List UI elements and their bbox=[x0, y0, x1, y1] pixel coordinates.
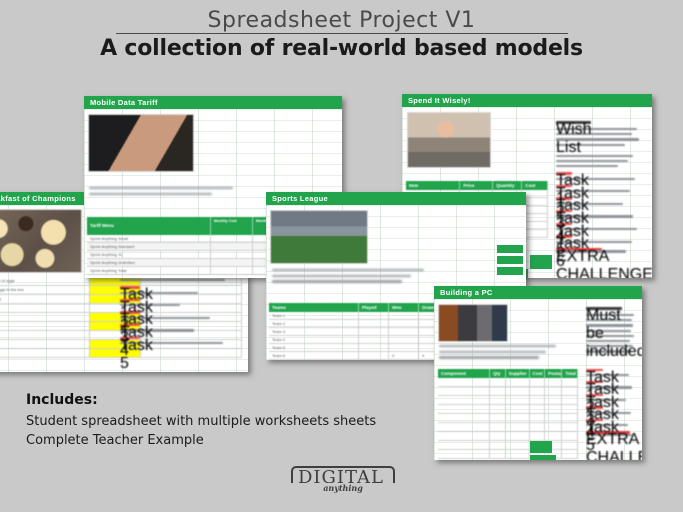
title-divider bbox=[116, 33, 568, 34]
table-row[interactable] bbox=[438, 378, 578, 387]
card-title-pc: Building a PC bbox=[434, 286, 642, 299]
task-label: Task 4 bbox=[556, 210, 572, 212]
total-cell-pc bbox=[530, 441, 552, 453]
digital-anything-logo[interactable]: DIGITAL anything bbox=[291, 464, 393, 498]
panel-heading: Must be included bbox=[586, 307, 622, 310]
blurb-line bbox=[89, 187, 233, 189]
blurb-mobile bbox=[89, 187, 239, 198]
task-label: Task 5 bbox=[586, 419, 603, 421]
task-label: Task 2 bbox=[586, 381, 603, 383]
includes-line: Student spreadsheet with multiple worksh… bbox=[26, 412, 376, 431]
task-label: Task 1 bbox=[586, 369, 603, 371]
task-label: Task 6 bbox=[556, 235, 572, 237]
table-row[interactable] bbox=[438, 405, 578, 414]
task-label: Task 4 bbox=[586, 406, 603, 408]
blurb-line bbox=[272, 280, 402, 282]
football-stadium-photo bbox=[270, 210, 368, 264]
task-label: Task 5 bbox=[120, 337, 140, 339]
logo-tagline: anything bbox=[291, 483, 395, 493]
task-label: Task 1 bbox=[556, 172, 572, 174]
task-label: Task 2 bbox=[120, 299, 140, 301]
blurb-line bbox=[272, 275, 411, 277]
includes-block: Includes: Student spreadsheet with multi… bbox=[26, 392, 376, 450]
card-building-a-pc[interactable]: Building a PC Component Qty Supplier Cos… bbox=[434, 286, 642, 460]
extra-challenge-label: EXTRA CHALLENGE bbox=[556, 248, 602, 251]
table-header-row: Component Qty Supplier Cost Postage Tota… bbox=[438, 369, 578, 378]
clear-button[interactable] bbox=[497, 256, 523, 264]
blurb-line bbox=[439, 345, 556, 347]
card-title-mobile: Mobile Data Tariff bbox=[84, 96, 342, 109]
table-header-row: Item Price Quantity Cost bbox=[406, 181, 548, 190]
task-label: Task 3 bbox=[556, 197, 572, 199]
table-row[interactable] bbox=[438, 432, 578, 441]
panel-breakfast-tasks: Task 1 Task 2 Task 3 Task 4 Task 5 bbox=[120, 279, 232, 347]
task-label: Task 3 bbox=[586, 394, 603, 396]
sort-button[interactable] bbox=[497, 245, 523, 253]
panel-spend-tasks: Wish List Task 1 Task 2 Task 3 Task 4 Ta… bbox=[556, 121, 644, 256]
card-title-spend: Spend It Wisely! bbox=[402, 94, 652, 107]
breakfast-table-food-photo bbox=[0, 209, 82, 273]
extra-challenge-label: EXTRA CHALLENGE bbox=[586, 431, 630, 434]
reset-button[interactable] bbox=[497, 267, 523, 275]
table-row[interactable] bbox=[438, 414, 578, 423]
table-row[interactable] bbox=[438, 387, 578, 396]
grand-total-cell-pc bbox=[530, 455, 556, 460]
computer-components-photo bbox=[438, 304, 508, 342]
woman-with-laptop-photo bbox=[407, 112, 491, 168]
total-cell-spend bbox=[530, 255, 552, 269]
task-label: Task 2 bbox=[556, 185, 572, 187]
sports-side-buttons[interactable] bbox=[497, 245, 523, 275]
table-row[interactable] bbox=[438, 396, 578, 405]
task-label: Task 1 bbox=[120, 286, 140, 288]
blurb-line bbox=[89, 193, 212, 195]
blurb-sports bbox=[272, 269, 430, 286]
table-row[interactable] bbox=[438, 423, 578, 432]
table-row[interactable] bbox=[438, 441, 578, 450]
card-title-sports: Sports League bbox=[266, 192, 526, 205]
page-subtitle: A collection of real-world based models bbox=[0, 36, 683, 61]
includes-heading: Includes: bbox=[26, 392, 376, 408]
table-pc-components[interactable]: Component Qty Supplier Cost Postage Tota… bbox=[438, 369, 578, 459]
page-title: Spreadsheet Project V1 bbox=[0, 8, 683, 33]
blurb-line bbox=[439, 351, 546, 353]
panel-pc-tasks: Must be included Task 1 Task 2 Task 3 Ta… bbox=[586, 307, 636, 439]
includes-line: Complete Teacher Example bbox=[26, 431, 376, 450]
table-row[interactable] bbox=[438, 450, 578, 459]
blurb-line bbox=[272, 269, 424, 271]
panel-heading: Wish List bbox=[556, 121, 591, 124]
task-label: Task 5 bbox=[556, 223, 572, 225]
blurb-line bbox=[439, 356, 539, 358]
poster-canvas: Spreadsheet Project V1 A collection of r… bbox=[0, 0, 683, 512]
task-label: Task 4 bbox=[120, 324, 140, 326]
sheet-pc: Component Qty Supplier Cost Postage Tota… bbox=[434, 299, 642, 460]
blurb-pc bbox=[439, 345, 561, 362]
task-label: Task 3 bbox=[120, 311, 140, 313]
hand-holding-smartphone-photo bbox=[88, 114, 194, 172]
